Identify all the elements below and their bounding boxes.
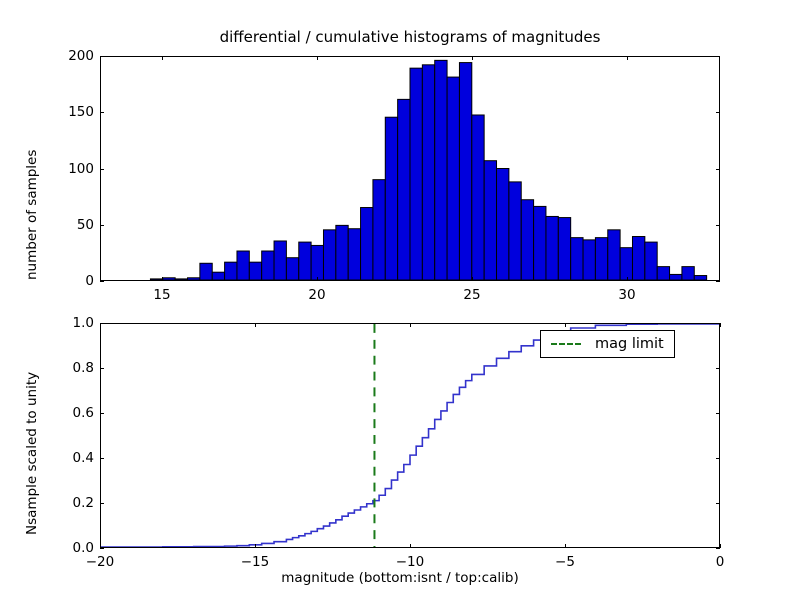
y-tick: [100, 323, 104, 324]
histogram-bar: [632, 237, 644, 280]
histogram-bar: [657, 267, 669, 280]
y-tick-label: 0.4: [38, 450, 94, 466]
histogram-bar: [682, 267, 694, 280]
y-tick: [716, 413, 720, 414]
histogram-bar: [620, 248, 632, 280]
x-tick: [720, 323, 721, 327]
x-tick: [472, 56, 473, 60]
x-tick-label: −5: [555, 554, 575, 570]
x-tick: [565, 323, 566, 327]
x-tick: [255, 323, 256, 327]
histogram-bar: [595, 238, 607, 280]
x-tick: [162, 277, 163, 281]
histogram-bar: [323, 230, 335, 280]
histogram-bar: [608, 230, 620, 280]
histogram-bar: [571, 238, 583, 280]
histogram-bar: [546, 216, 558, 280]
y-tick: [716, 56, 720, 57]
mag-limit-legend-line: [551, 343, 581, 345]
top-plot-area: [101, 57, 719, 280]
histogram-bar: [237, 251, 249, 280]
figure: differential / cumulative histograms of …: [0, 0, 800, 600]
histogram-bar: [163, 278, 175, 280]
histogram-bars: [101, 57, 719, 280]
y-tick: [100, 503, 104, 504]
y-tick: [716, 548, 720, 549]
x-tick: [627, 56, 628, 60]
y-tick: [716, 458, 720, 459]
histogram-bar: [497, 169, 509, 281]
y-tick: [716, 169, 720, 170]
y-tick-label: 1.0: [38, 315, 94, 331]
histogram-bar: [484, 161, 496, 280]
y-tick: [716, 368, 720, 369]
histogram-bar: [422, 65, 434, 280]
histogram-bar: [311, 245, 323, 280]
legend[interactable]: mag limit: [540, 330, 675, 358]
histogram-bar: [410, 68, 422, 280]
y-tick: [100, 368, 104, 369]
histogram-bar: [645, 242, 657, 280]
y-tick: [100, 548, 104, 549]
histogram-bar: [534, 206, 546, 280]
y-tick-label: 0.0: [38, 540, 94, 556]
histogram-bar: [188, 278, 200, 280]
x-tick: [565, 544, 566, 548]
histogram-bar: [274, 241, 286, 280]
y-tick-label: 0: [38, 273, 94, 289]
y-tick: [100, 413, 104, 414]
x-tick: [317, 56, 318, 60]
histogram-bar: [459, 63, 471, 280]
legend-label-mag-limit: mag limit: [595, 336, 664, 352]
x-tick: [410, 323, 411, 327]
y-tick: [100, 281, 104, 282]
y-tick: [716, 503, 720, 504]
y-tick: [100, 225, 104, 226]
x-tick-label: 20: [308, 287, 325, 303]
histogram-bar: [385, 117, 397, 280]
y-tick: [716, 281, 720, 282]
x-tick: [255, 544, 256, 548]
histogram-bar: [286, 258, 298, 280]
y-tick: [100, 458, 104, 459]
histogram-bar: [150, 279, 162, 280]
x-tick: [720, 544, 721, 548]
x-tick-label: 15: [153, 287, 170, 303]
x-tick-label: 25: [463, 287, 480, 303]
histogram-bar: [336, 225, 348, 280]
y-tick: [716, 323, 720, 324]
x-tick: [410, 544, 411, 548]
y-tick-label: 0.6: [38, 405, 94, 421]
y-tick-label: 0.2: [38, 495, 94, 511]
y-tick: [100, 112, 104, 113]
histogram-bar: [373, 180, 385, 280]
histogram-bar: [175, 279, 187, 280]
x-tick-label: −20: [86, 554, 115, 570]
histogram-bar: [509, 182, 521, 280]
histogram-bar: [212, 272, 224, 280]
x-axis-label: magnitude (bottom:isnt / top:calib): [0, 570, 800, 586]
y-tick-label: 100: [38, 161, 94, 177]
x-tick: [627, 277, 628, 281]
histogram-bar: [398, 99, 410, 280]
histogram-bar: [249, 262, 261, 280]
histogram-bar: [200, 263, 212, 280]
x-tick-label: 30: [618, 287, 635, 303]
histogram-bar: [694, 276, 706, 280]
y-tick: [716, 225, 720, 226]
x-tick-label: −10: [396, 554, 425, 570]
histogram-bar: [583, 240, 595, 280]
y-tick-label: 50: [38, 217, 94, 233]
x-tick-label: −15: [241, 554, 270, 570]
y-tick-label: 150: [38, 104, 94, 120]
histogram-bar: [262, 251, 274, 280]
y-tick-label: 200: [38, 48, 94, 64]
histogram-bar: [558, 218, 570, 280]
histogram-bar: [447, 77, 459, 280]
histogram-bar: [435, 60, 447, 280]
histogram-bar: [472, 115, 484, 280]
x-tick-label: 0: [716, 554, 725, 570]
histogram-bar: [299, 242, 311, 280]
x-tick: [162, 56, 163, 60]
y-tick: [100, 169, 104, 170]
histogram-bar: [670, 274, 682, 280]
chart-title: differential / cumulative histograms of …: [100, 28, 720, 46]
y-tick-label: 0.8: [38, 360, 94, 376]
x-tick: [317, 277, 318, 281]
histogram-bar: [348, 229, 360, 280]
differential-histogram-axes: [100, 56, 720, 281]
x-tick: [472, 277, 473, 281]
histogram-bar: [225, 262, 237, 280]
histogram-bar: [521, 200, 533, 280]
y-tick: [716, 112, 720, 113]
histogram-bar: [361, 208, 373, 280]
y-tick: [100, 56, 104, 57]
